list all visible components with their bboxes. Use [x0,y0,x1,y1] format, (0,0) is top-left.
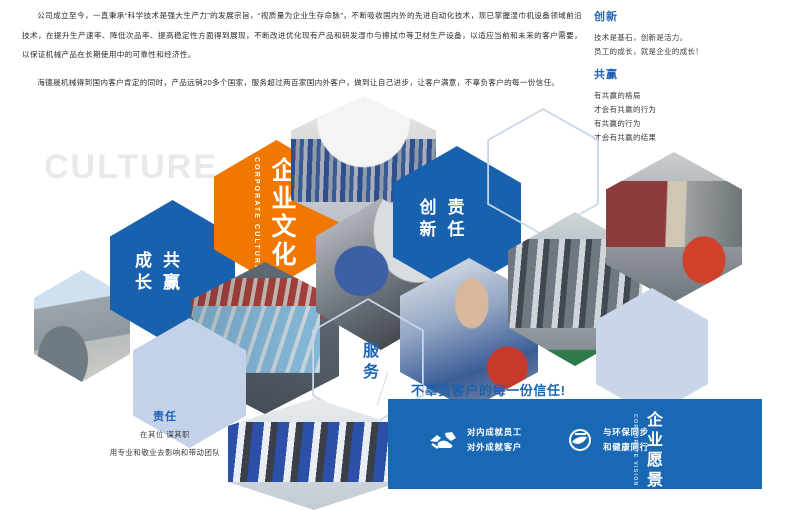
intro-paragraph-1: 公司成立至今，一直秉承“科学技术是强大生产力”的发展宗旨，“视质量为企业生存命脉… [22,6,582,65]
banner-vision-cn: 企业愿景 [640,411,664,491]
value-block-winwin: 共赢 有共赢的格局 才会有共赢的行为 有共赢的行为 才会有共赢的结果 [594,66,656,145]
hex-label-winwin: 共赢 [161,251,178,295]
value-block-innovation: 创新 技术是基石，创新是活力。 员工的成长，就是企业的成长！ [594,8,703,59]
banner-items: 对内成就员工 对外成就客户 与环保同步 和健康同行 [428,425,649,455]
banner-item-line1: 对内成就员工 [467,425,522,440]
hex-culture-en: CORPORATE CULTURE [253,157,260,272]
hex-label-service: 服务 [356,342,380,384]
banner-vision-en: CORPORATE VISION [632,414,638,487]
value-line: 技术是基石，创新是活力。 [594,31,703,45]
responsibility-line: 在其位 谋其职 [92,428,238,442]
value-line: 员工的成长，就是企业的成长！ [594,45,703,59]
banner-item-line2: 对外成就客户 [467,440,522,455]
banner-vision-label: CORPORATE VISION 企业愿景 [632,411,742,491]
banner-item-text: 对内成就员工 对外成就客户 [467,425,522,455]
eco-leaf-icon [566,428,594,452]
value-line: 有共赢的格局 [594,89,656,103]
banner-slogan: 不辜负客户的每一份信任! [411,380,566,399]
company-intro-text: 公司成立至今，一直秉承“科学技术是强大生产力”的发展宗旨，“视质量为企业生存命脉… [22,6,582,92]
hex-label-innovation: 创新 [418,198,435,242]
banner-item-employees-customers: 对内成就员工 对外成就客户 [428,425,522,455]
value-title-winwin: 共赢 [594,66,656,82]
intro-paragraph-2: 海德晟机械得到国内客户肯定的同时，产品远销20多个国家，服务超过两百家国内外客户… [22,73,582,93]
hex-outline-decorative-bottom-left [134,384,210,408]
value-line: 才会有共赢的行为 [594,103,656,117]
handshake-icon [428,428,458,452]
hex-label-growth: 成长 [133,251,150,295]
value-line: 有共赢的行为 [594,117,656,131]
responsibility-text-block: 责任 在其位 谋其职 用专业和敬业去影响和带动团队 [92,408,238,460]
value-title-innovation: 创新 [594,8,703,24]
corporate-vision-banner: 对内成就员工 对外成就客户 与环保同步 和健康同行 CORPORATE VISI… [388,399,762,489]
responsibility-title: 责任 [92,408,238,424]
responsibility-line: 用专业和敬业去影响和带动团队 [92,446,238,460]
value-line: 才会有共赢的结果 [594,131,656,145]
hex-label-responsibility: 责任 [446,198,463,242]
watermark-culture: CULTURE [44,148,218,187]
